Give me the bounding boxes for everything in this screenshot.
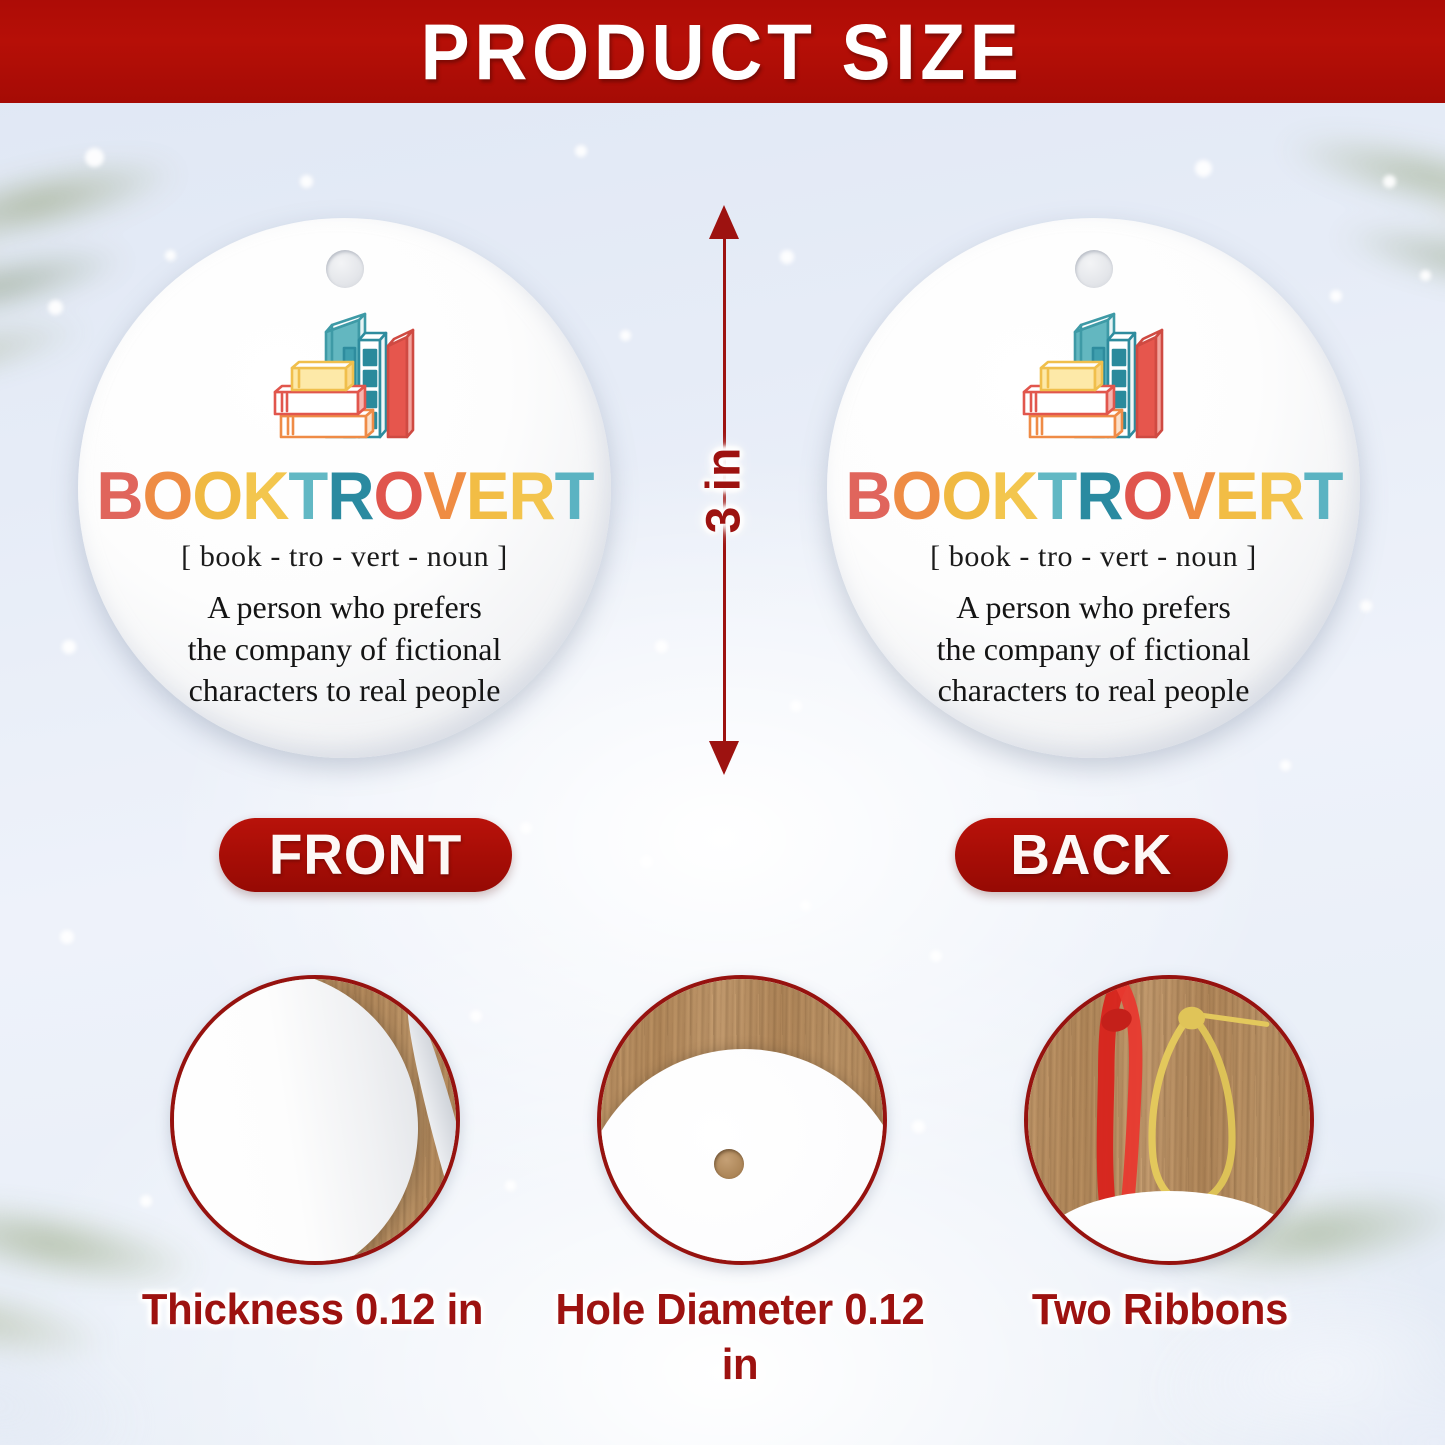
hole-icon [714, 1149, 744, 1179]
definition-line: A person who prefers [937, 587, 1251, 629]
brand-letter: V [423, 462, 466, 530]
brand-letter: R [1257, 462, 1303, 530]
badge-back: BACK [955, 818, 1228, 892]
detail-circle-ribbons [1024, 975, 1314, 1265]
ornament-front-artwork: B O O K T R O V E R T [ book - tro - ver… [78, 306, 611, 712]
arrow-down-icon [709, 741, 739, 775]
badge-back-label: BACK [1011, 827, 1173, 884]
brand-wordmark: B O O K T R O V E R T [96, 462, 593, 530]
definition-line: A person who prefers [188, 587, 502, 629]
brand-letter: E [1214, 462, 1257, 530]
brand-letter: B [845, 462, 891, 530]
brand-letter: O [941, 462, 991, 530]
definition-line: characters to real people [188, 670, 502, 712]
ornament-back: B O O K T R O V E R T [ book - tro - ver… [827, 218, 1360, 758]
brand-letter: O [192, 462, 242, 530]
brand-letter: R [1076, 462, 1122, 530]
header-banner: PRODUCT SIZE [0, 0, 1445, 103]
brand-letter: R [508, 462, 554, 530]
brand-letter: O [142, 462, 192, 530]
detail-circle-thickness [170, 975, 460, 1265]
pronunciation-text: [ book - tro - vert - noun ] [930, 540, 1257, 574]
ornament-front: B O O K T R O V E R T [ book - tro - ver… [78, 218, 611, 758]
definition-line: characters to real people [937, 670, 1251, 712]
brand-letter: R [327, 462, 373, 530]
definition-text: A person who prefers the company of fict… [937, 587, 1251, 712]
dimension-label: 3 in [697, 447, 752, 534]
brand-letter: T [1037, 462, 1076, 530]
brand-letter: K [242, 462, 288, 530]
brand-letter: T [554, 462, 593, 530]
badge-front-label: FRONT [269, 827, 462, 884]
brand-wordmark: B O O K T R O V E R T [845, 462, 1342, 530]
definition-line: the company of fictional [937, 629, 1251, 671]
product-size-infographic: PRODUCT SIZE [0, 0, 1445, 1445]
definition-line: the company of fictional [188, 629, 502, 671]
brand-letter: O [891, 462, 941, 530]
brand-letter: V [1172, 462, 1215, 530]
page-title: PRODUCT SIZE [421, 12, 1024, 91]
brand-letter: B [96, 462, 142, 530]
stack-of-books-icon [996, 306, 1192, 456]
ornament-back-artwork: B O O K T R O V E R T [ book - tro - ver… [827, 306, 1360, 712]
ornament-hanging-hole [326, 250, 364, 288]
brand-letter: T [1303, 462, 1342, 530]
pronunciation-text: [ book - tro - vert - noun ] [181, 540, 508, 574]
stack-of-books-icon [247, 306, 443, 456]
height-dimension-arrow: 3 in [722, 205, 726, 775]
caption-hole-diameter: Hole Diameter 0.12 in [550, 1282, 930, 1392]
brand-letter: K [991, 462, 1037, 530]
badge-front: FRONT [219, 818, 512, 892]
ornament-hanging-hole [1075, 250, 1113, 288]
brand-letter: O [1122, 462, 1172, 530]
caption-ribbons: Two Ribbons [970, 1282, 1350, 1337]
definition-text: A person who prefers the company of fict… [188, 587, 502, 712]
detail-circle-hole [597, 975, 887, 1265]
brand-letter: T [288, 462, 327, 530]
brand-letter: E [465, 462, 508, 530]
caption-thickness: Thickness 0.12 in [106, 1282, 519, 1337]
brand-letter: O [373, 462, 423, 530]
